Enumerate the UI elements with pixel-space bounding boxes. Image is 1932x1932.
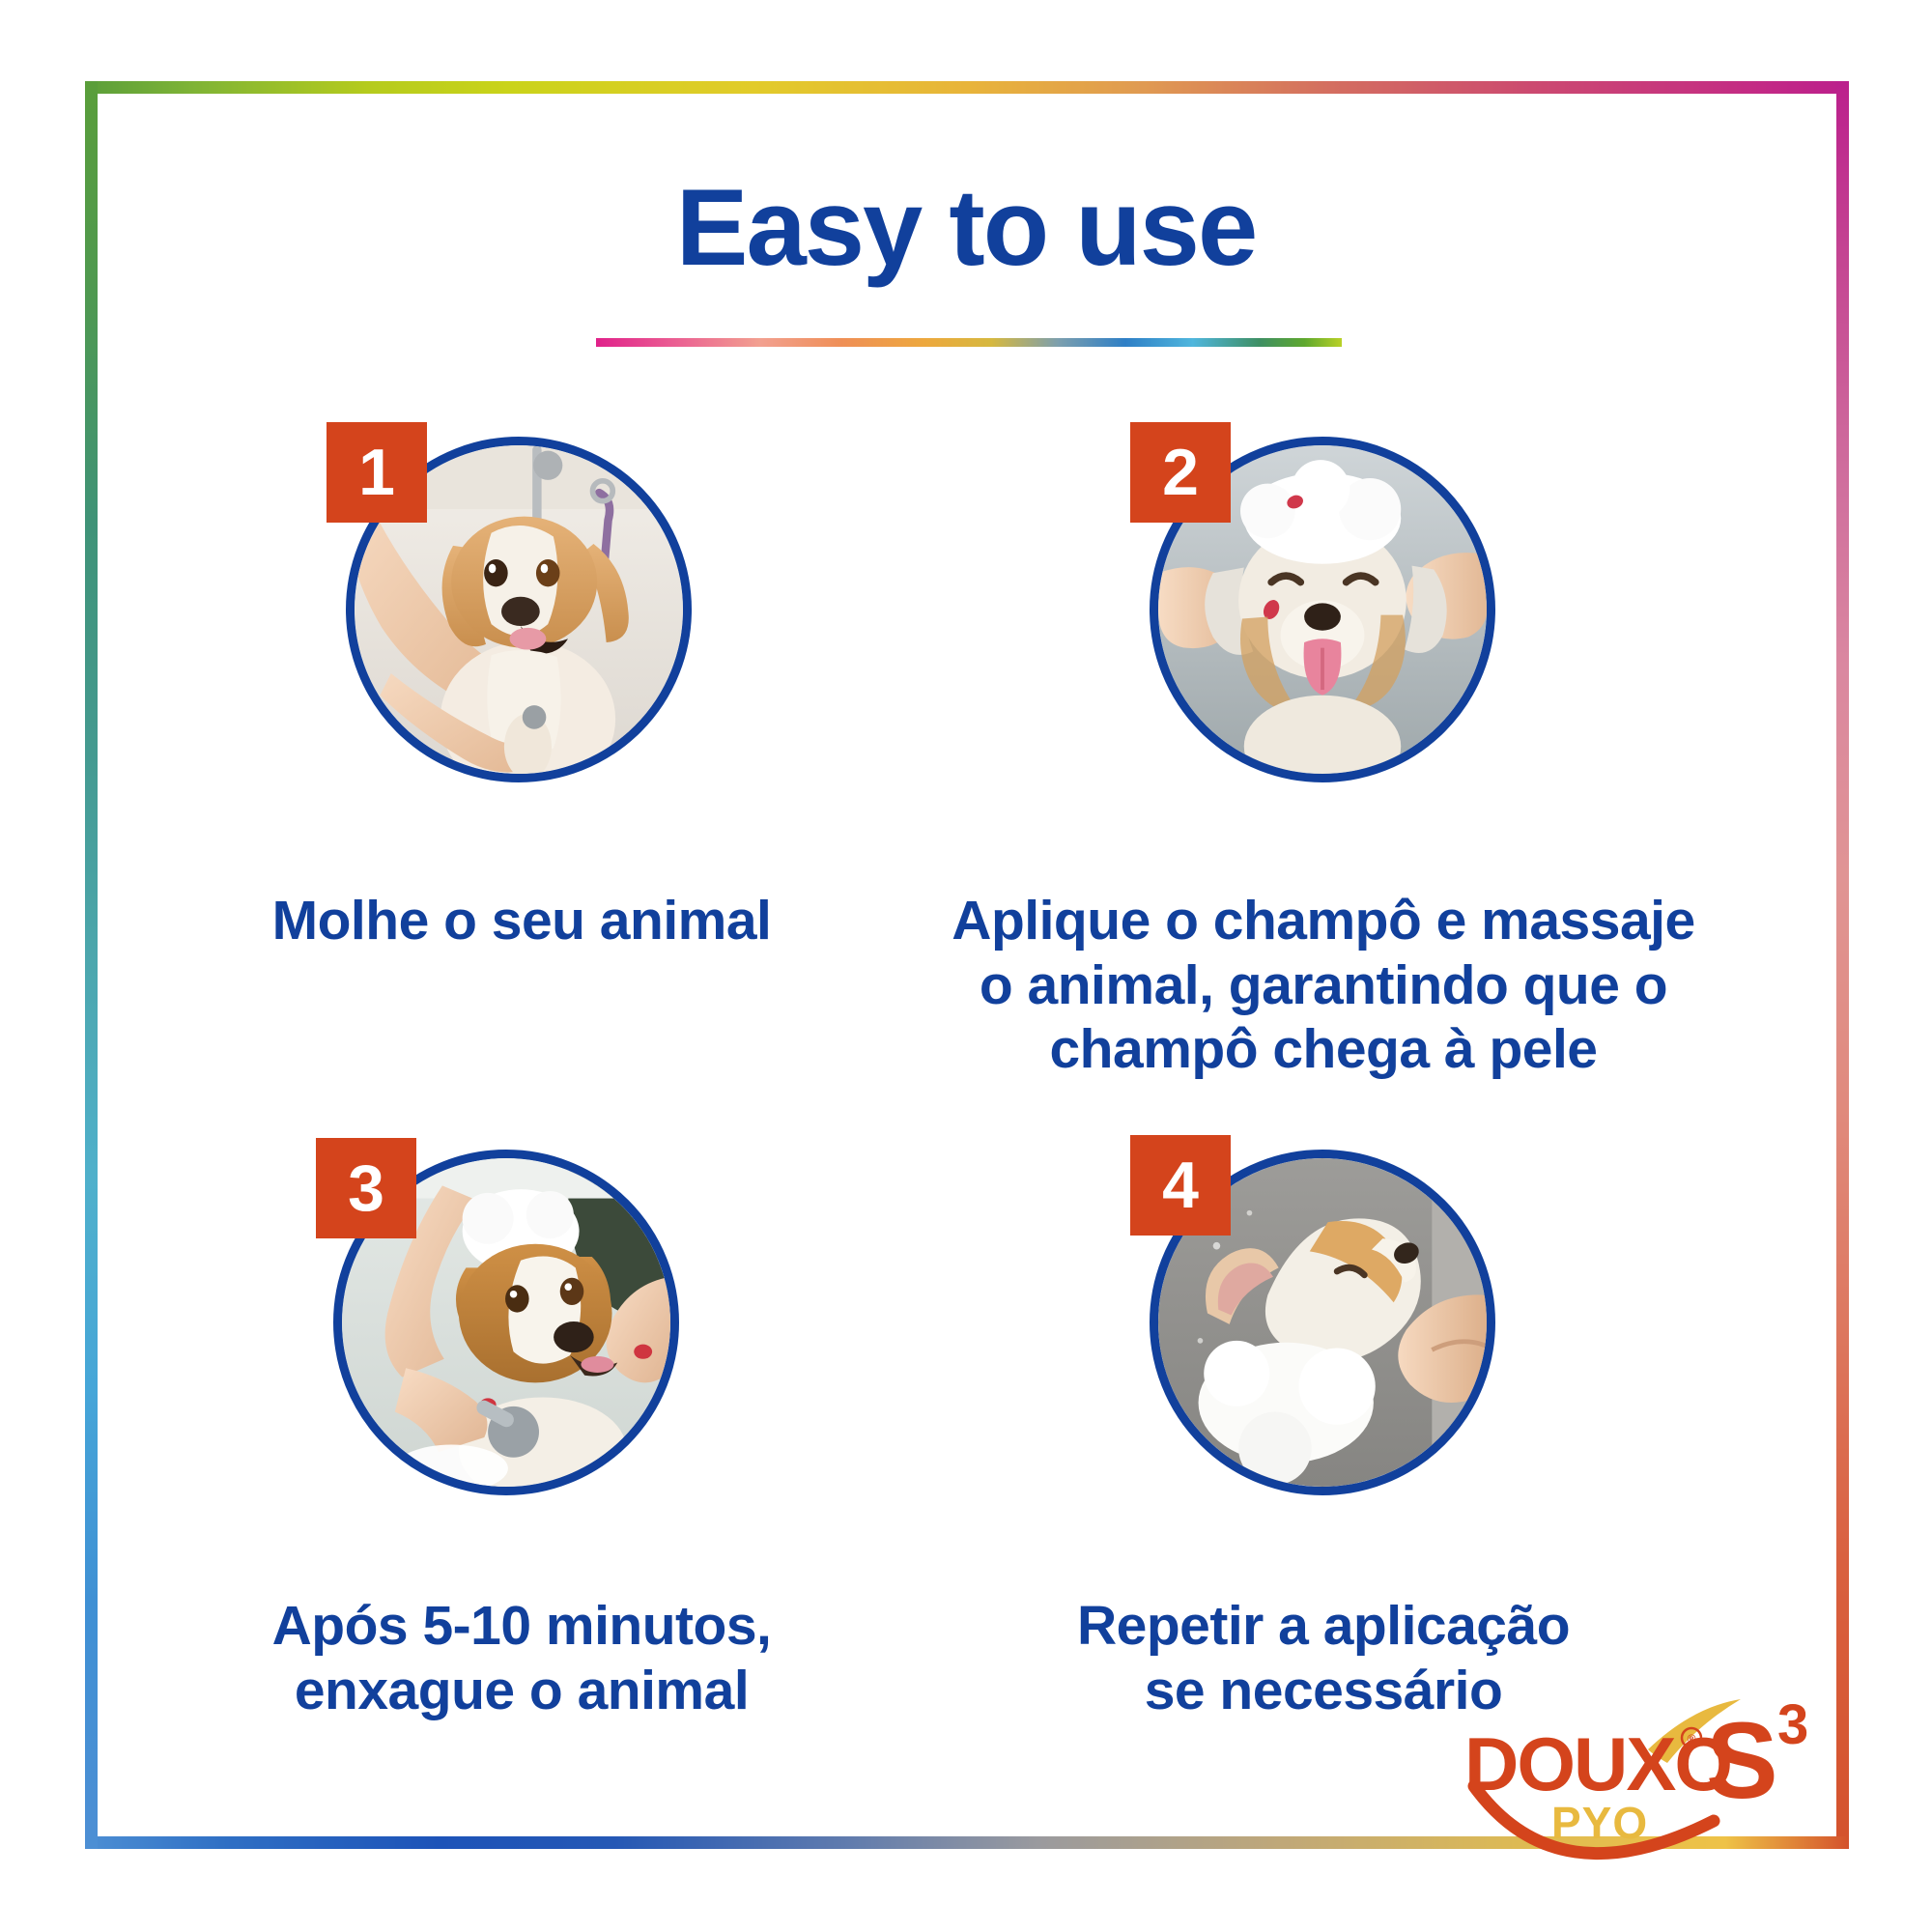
title-underline-rule xyxy=(596,338,1342,347)
step-2-number-badge: 2 xyxy=(1130,422,1231,523)
frame-border-right xyxy=(1836,81,1849,1849)
step-1-number-badge: 1 xyxy=(327,422,427,523)
step-3-number-badge: 3 xyxy=(316,1138,416,1238)
step-4-number-badge: 4 xyxy=(1130,1135,1231,1236)
step-1-image-circle: 1 xyxy=(346,437,692,782)
step-4-image-circle: 4 xyxy=(1150,1150,1495,1495)
step-2-image-circle: 2 xyxy=(1150,437,1495,782)
logo-registered-mark: ® xyxy=(1688,1732,1696,1746)
step-2-caption: Aplique o champô e massaje o animal, gar… xyxy=(927,889,1719,1082)
step-3-caption: Após 5-10 minutos, enxague o animal xyxy=(126,1594,918,1722)
douxo-s3-pyo-logo: DOUXO ® S 3 PYO xyxy=(1447,1686,1853,1869)
frame-border-top xyxy=(85,81,1849,94)
logo-sub-brand-pyo: PYO xyxy=(1551,1798,1648,1848)
frame-border-left xyxy=(85,81,98,1849)
logo-superscript-3: 3 xyxy=(1777,1693,1808,1756)
step-1-caption: Molhe o seu animal xyxy=(126,889,918,953)
page-title: Easy to use xyxy=(0,174,1932,282)
step-3-image-circle: 3 xyxy=(333,1150,679,1495)
poster-canvas: Easy to use xyxy=(0,0,1932,1932)
logo-s-letter: S xyxy=(1706,1700,1778,1821)
